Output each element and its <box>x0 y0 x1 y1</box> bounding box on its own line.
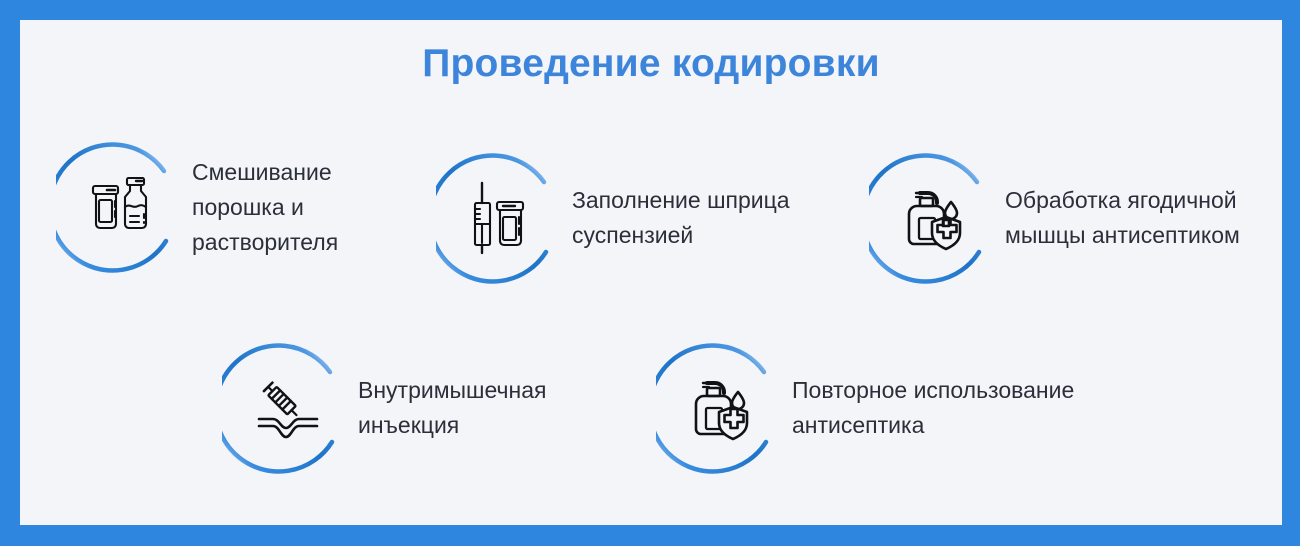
step-label: Повторное использование антисептика <box>792 373 1074 443</box>
step-label: Внутримышечная инъекция <box>358 373 546 443</box>
step-item-mixing: Смешивание порошка и растворителя <box>56 141 338 273</box>
step-badge <box>656 342 788 474</box>
step-label: Заполнение шприца суспензией <box>572 183 790 253</box>
content-panel: Проведение кодировки <box>20 20 1282 525</box>
step-item-fill-syringe: Заполнение шприца суспензией <box>436 152 790 284</box>
intramuscular-injection-icon <box>251 371 325 445</box>
step-badge <box>222 342 354 474</box>
infographic-card: Проведение кодировки <box>0 0 1300 546</box>
step-badge <box>869 152 1001 284</box>
page-title: Проведение кодировки <box>20 42 1282 86</box>
antiseptic-dispenser-shield-icon <box>685 371 759 445</box>
two-vials-icon <box>85 170 159 244</box>
step-item-antiseptic-buttock: Обработка ягодичной мышцы антисептиком <box>869 152 1240 284</box>
step-label: Смешивание порошка и растворителя <box>192 155 338 260</box>
step-item-antiseptic-repeat: Повторное использование антисептика <box>656 342 1074 474</box>
step-badge <box>56 141 188 273</box>
antiseptic-dispenser-shield-icon <box>898 181 972 255</box>
step-label: Обработка ягодичной мышцы антисептиком <box>1005 183 1240 253</box>
syringe-and-vial-icon <box>465 181 539 255</box>
step-badge <box>436 152 568 284</box>
step-item-injection: Внутримышечная инъекция <box>222 342 546 474</box>
